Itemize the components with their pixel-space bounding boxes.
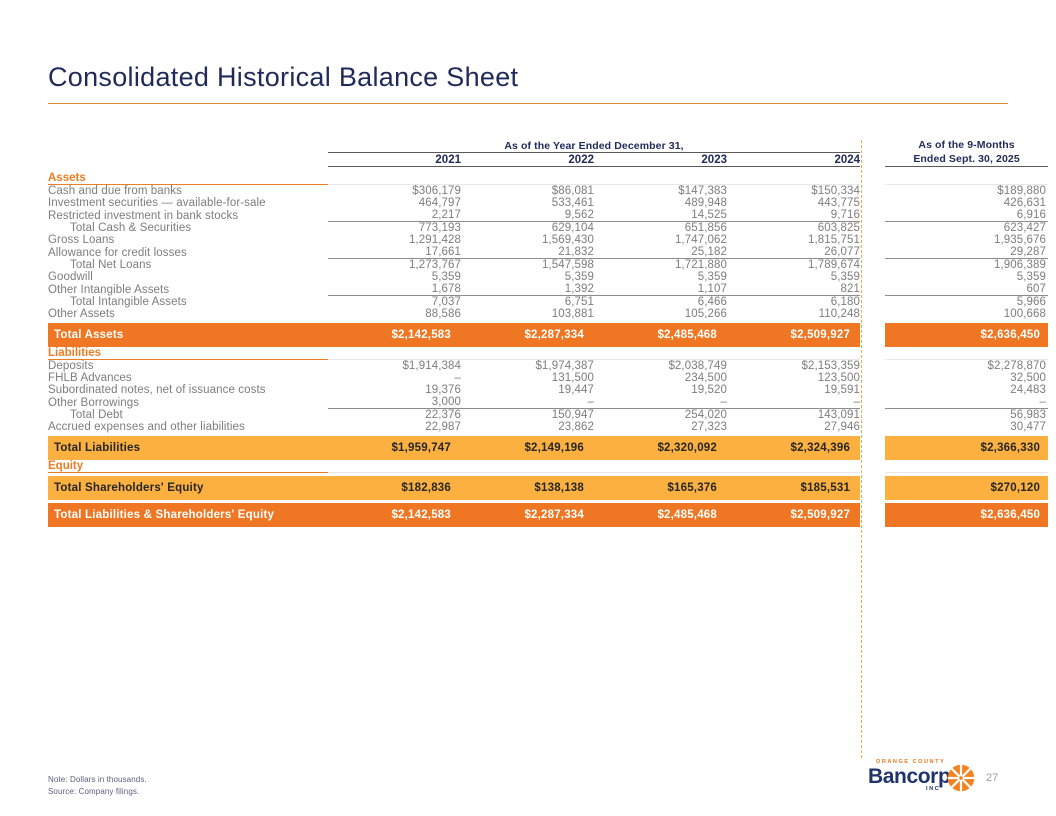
column-header-2022: 2022: [461, 152, 594, 167]
table-header-span-row: As of the Year Ended December 31, As of …: [48, 138, 1048, 152]
cell-sub-notes-2022: 19,447: [461, 384, 594, 396]
header-stub-label-line2: Ended Sept. 30, 2025: [885, 152, 1048, 167]
cell-allowance-2021: 17,661: [328, 246, 461, 259]
cell-sub-notes-2023: 19,520: [594, 384, 727, 396]
cell-restricted-2024: 9,716: [727, 209, 860, 222]
cell-gross-loans-2025: 1,935,676: [885, 234, 1048, 246]
cell-total-liab-equity-2025: $2,636,450: [885, 503, 1048, 527]
section-gap-assets: [860, 172, 885, 185]
row-gap: [860, 185, 885, 198]
row-label-restricted-investment: Restricted investment in bank stocks: [48, 209, 328, 222]
cell-total-net-loans-2021: 1,273,767: [328, 259, 461, 272]
logo-inc-text: INC: [926, 786, 940, 792]
row-label-other-assets: Other Assets: [48, 308, 328, 320]
row-gap: [860, 323, 885, 347]
cell-total-liabilities-2024: $2,324,396: [727, 436, 860, 460]
row-label-total-net-loans: Total Net Loans: [48, 259, 328, 272]
row-gap: [860, 476, 885, 500]
table-row: Other Assets 88,586 103,881 105,266 110,…: [48, 308, 1048, 320]
cell-other-borrowings-2022: –: [461, 396, 594, 409]
cell-total-cash-sec-2022: 629,104: [461, 222, 594, 235]
cell-deposits-2023: $2,038,749: [594, 360, 727, 373]
balance-sheet-table: As of the Year Ended December 31, As of …: [48, 138, 1048, 527]
row-label-accrued-expenses: Accrued expenses and other liabilities: [48, 421, 328, 433]
table-row: Goodwill 5,359 5,359 5,359 5,359 5,359: [48, 271, 1048, 283]
cell-total-assets-2023: $2,485,468: [594, 323, 727, 347]
header-gap: [860, 138, 885, 152]
row-label-total-equity: Total Shareholders' Equity: [48, 476, 328, 500]
cell-restricted-2023: 14,525: [594, 209, 727, 222]
cell-goodwill-2023: 5,359: [594, 271, 727, 283]
cell-total-liab-equity-2024: $2,509,927: [727, 503, 860, 527]
row-label-total-cash-securities: Total Cash & Securities: [48, 222, 328, 235]
row-gap: [860, 360, 885, 373]
column-header-2024: 2024: [727, 152, 860, 167]
section-label-assets: Assets: [48, 172, 328, 185]
cell-total-debt-2023: 254,020: [594, 409, 727, 422]
table-row: Gross Loans 1,291,428 1,569,430 1,747,06…: [48, 234, 1048, 246]
cell-total-cash-sec-2024: 603,825: [727, 222, 860, 235]
cell-restricted-2021: 2,217: [328, 209, 461, 222]
footnote-note: Note: Dollars in thousands.: [48, 774, 147, 786]
cell-other-intangible-2022: 1,392: [461, 283, 594, 296]
cell-other-assets-2023: 105,266: [594, 308, 727, 320]
row-gap: [860, 384, 885, 396]
cell-other-borrowings-2024: –: [727, 396, 860, 409]
cell-gross-loans-2023: 1,747,062: [594, 234, 727, 246]
cell-total-assets-2025: $2,636,450: [885, 323, 1048, 347]
row-label-other-borrowings: Other Borrowings: [48, 396, 328, 409]
cell-inv-afs-2022: 533,461: [461, 197, 594, 209]
cell-total-debt-2024: 143,091: [727, 409, 860, 422]
balance-sheet-table-container: As of the Year Ended December 31, As of …: [48, 138, 1008, 527]
section-header-assets-row: Assets: [48, 172, 1048, 185]
section-label-liabilities: Liabilities: [48, 347, 328, 360]
cell-fhlb-2021: –: [328, 372, 461, 384]
cell-total-equity-2021: $182,836: [328, 476, 461, 500]
cell-total-intangible-2025: 5,966: [885, 296, 1048, 309]
cell-sub-notes-2021: 19,376: [328, 384, 461, 396]
row-label-fhlb-advances: FHLB Advances: [48, 372, 328, 384]
row-label-total-debt: Total Debt: [48, 409, 328, 422]
cell-goodwill-2021: 5,359: [328, 271, 461, 283]
table-header-year-row: 2021 2022 2023 2024 Ended Sept. 30, 2025: [48, 152, 1048, 167]
column-header-2023: 2023: [594, 152, 727, 167]
cell-total-net-loans-2022: 1,547,598: [461, 259, 594, 272]
table-row: Deposits $1,914,384 $1,974,387 $2,038,74…: [48, 360, 1048, 373]
cell-deposits-2024: $2,153,359: [727, 360, 860, 373]
table-row: Accrued expenses and other liabilities 2…: [48, 421, 1048, 433]
cell-other-assets-2024: 110,248: [727, 308, 860, 320]
row-gap: [860, 421, 885, 433]
cell-total-net-loans-2023: 1,721,880: [594, 259, 727, 272]
row-label-total-liabilities: Total Liabilities: [48, 436, 328, 460]
cell-goodwill-2024: 5,359: [727, 271, 860, 283]
cell-total-cash-sec-2023: 651,856: [594, 222, 727, 235]
row-gap: [860, 222, 885, 235]
cell-inv-afs-2024: 443,775: [727, 197, 860, 209]
section-header-equity-row: Equity: [48, 460, 1048, 473]
column-divider-dashed: [861, 140, 862, 758]
footnotes: Note: Dollars in thousands. Source: Comp…: [48, 774, 147, 798]
orange-slice-icon: [947, 764, 975, 792]
table-row: Other Borrowings 3,000 – – – –: [48, 396, 1048, 409]
cell-total-liabilities-2025: $2,366,330: [885, 436, 1048, 460]
row-gap: [860, 308, 885, 320]
cell-other-borrowings-2021: 3,000: [328, 396, 461, 409]
cell-total-intangible-2022: 6,751: [461, 296, 594, 309]
cell-total-liabilities-2022: $2,149,196: [461, 436, 594, 460]
row-gap: [860, 259, 885, 272]
table-row: Investment securities — available-for-sa…: [48, 197, 1048, 209]
cell-gross-loans-2021: 1,291,428: [328, 234, 461, 246]
cell-restricted-2022: 9,562: [461, 209, 594, 222]
cell-gross-loans-2022: 1,569,430: [461, 234, 594, 246]
cell-allowance-2025: 29,287: [885, 246, 1048, 259]
cell-total-liabilities-2023: $2,320,092: [594, 436, 727, 460]
table-row: Restricted investment in bank stocks 2,2…: [48, 209, 1048, 222]
cell-total-assets-2022: $2,287,334: [461, 323, 594, 347]
cell-total-liabilities-2021: $1,959,747: [328, 436, 461, 460]
section-rule-equity: [328, 460, 860, 473]
cell-accrued-2022: 23,862: [461, 421, 594, 433]
cell-allowance-2022: 21,832: [461, 246, 594, 259]
cell-total-net-loans-2025: 1,906,389: [885, 259, 1048, 272]
cell-cash-due-2025: $189,880: [885, 185, 1048, 198]
cell-inv-afs-2023: 489,948: [594, 197, 727, 209]
cell-total-intangible-2021: 7,037: [328, 296, 461, 309]
cell-inv-afs-2021: 464,797: [328, 197, 461, 209]
row-label-goodwill: Goodwill: [48, 271, 328, 283]
header-stub-label-line1: As of the 9-Months: [885, 138, 1048, 152]
cell-deposits-2021: $1,914,384: [328, 360, 461, 373]
cell-accrued-2023: 27,323: [594, 421, 727, 433]
cell-other-borrowings-2025: –: [885, 396, 1048, 409]
row-label-deposits: Deposits: [48, 360, 328, 373]
table-row: FHLB Advances – 131,500 234,500 123,500 …: [48, 372, 1048, 384]
cell-allowance-2024: 26,077: [727, 246, 860, 259]
header-gap-2: [860, 152, 885, 167]
page-title: Consolidated Historical Balance Sheet: [48, 62, 518, 93]
cell-goodwill-2022: 5,359: [461, 271, 594, 283]
header-spacer: [48, 138, 328, 152]
row-label-total-intangible-assets: Total Intangible Assets: [48, 296, 328, 309]
row-label-total-assets: Total Assets: [48, 323, 328, 347]
cell-fhlb-2023: 234,500: [594, 372, 727, 384]
row-gap: [860, 372, 885, 384]
table-row: Subordinated notes, net of issuance cost…: [48, 384, 1048, 396]
row-gap: [860, 503, 885, 527]
row-gap: [860, 283, 885, 296]
cell-total-equity-2025: $270,120: [885, 476, 1048, 500]
cell-other-intangible-2024: 821: [727, 283, 860, 296]
cell-total-assets-2024: $2,509,927: [727, 323, 860, 347]
section-rule-liabilities-last: [885, 347, 1048, 360]
row-gap: [860, 209, 885, 222]
section-rule-assets-last: [885, 172, 1048, 185]
section-label-equity: Equity: [48, 460, 328, 473]
header-years-span-label: As of the Year Ended December 31,: [328, 138, 860, 152]
cell-other-assets-2025: 100,668: [885, 308, 1048, 320]
row-label-gross-loans: Gross Loans: [48, 234, 328, 246]
cell-deposits-2022: $1,974,387: [461, 360, 594, 373]
cell-total-debt-2025: 56,983: [885, 409, 1048, 422]
row-label-cash-due: Cash and due from banks: [48, 185, 328, 198]
cell-total-net-loans-2024: 1,789,674: [727, 259, 860, 272]
cell-accrued-2021: 22,987: [328, 421, 461, 433]
table-row: Other Intangible Assets 1,678 1,392 1,10…: [48, 283, 1048, 296]
section-rule-liabilities: [328, 347, 860, 360]
header-spacer-2: [48, 152, 328, 167]
total-liabilities-row: Total Liabilities $1,959,747 $2,149,196 …: [48, 436, 1048, 460]
total-liabilities-and-equity-row: Total Liabilities & Shareholders' Equity…: [48, 503, 1048, 527]
row-gap: [860, 409, 885, 422]
cell-total-debt-2022: 150,947: [461, 409, 594, 422]
cell-sub-notes-2025: 24,483: [885, 384, 1048, 396]
cell-sub-notes-2024: 19,591: [727, 384, 860, 396]
cell-cash-due-2021: $306,179: [328, 185, 461, 198]
section-rule-assets: [328, 172, 860, 185]
cell-cash-due-2024: $150,334: [727, 185, 860, 198]
cell-total-liab-equity-2022: $2,287,334: [461, 503, 594, 527]
row-gap: [860, 436, 885, 460]
cell-accrued-2024: 27,946: [727, 421, 860, 433]
cell-other-assets-2021: 88,586: [328, 308, 461, 320]
cell-accrued-2025: 30,477: [885, 421, 1048, 433]
table-row: Allowance for credit losses 17,661 21,83…: [48, 246, 1048, 259]
cell-total-liab-equity-2023: $2,485,468: [594, 503, 727, 527]
cell-inv-afs-2025: 426,631: [885, 197, 1048, 209]
footnote-source: Source: Company filings.: [48, 786, 147, 798]
cell-restricted-2025: 6,916: [885, 209, 1048, 222]
company-logo: ORANGE COUNTY Bancorp INC: [868, 758, 978, 800]
table-row-subtotal: Total Intangible Assets 7,037 6,751 6,46…: [48, 296, 1048, 309]
cell-fhlb-2025: 32,500: [885, 372, 1048, 384]
title-underline-rule: [48, 103, 1008, 104]
row-label-investment-securities: Investment securities — available-for-sa…: [48, 197, 328, 209]
cell-total-debt-2021: 22,376: [328, 409, 461, 422]
table-row-subtotal: Total Net Loans 1,273,767 1,547,598 1,72…: [48, 259, 1048, 272]
cell-fhlb-2024: 123,500: [727, 372, 860, 384]
cell-allowance-2023: 25,182: [594, 246, 727, 259]
table-row: Cash and due from banks $306,179 $86,081…: [48, 185, 1048, 198]
cell-total-intangible-2024: 6,180: [727, 296, 860, 309]
cell-cash-due-2023: $147,383: [594, 185, 727, 198]
row-label-other-intangible-assets: Other Intangible Assets: [48, 283, 328, 296]
cell-other-intangible-2025: 607: [885, 283, 1048, 296]
table-row-subtotal: Total Cash & Securities 773,193 629,104 …: [48, 222, 1048, 235]
page-number: 27: [986, 772, 998, 784]
table-row-subtotal: Total Debt 22,376 150,947 254,020 143,09…: [48, 409, 1048, 422]
cell-total-liab-equity-2021: $2,142,583: [328, 503, 461, 527]
cell-gross-loans-2024: 1,815,751: [727, 234, 860, 246]
section-header-liabilities-row: Liabilities: [48, 347, 1048, 360]
cell-total-equity-2023: $165,376: [594, 476, 727, 500]
section-rule-equity-last: [885, 460, 1048, 473]
cell-other-intangible-2023: 1,107: [594, 283, 727, 296]
cell-total-cash-sec-2025: 623,427: [885, 222, 1048, 235]
cell-other-intangible-2021: 1,678: [328, 283, 461, 296]
cell-goodwill-2025: 5,359: [885, 271, 1048, 283]
total-assets-row: Total Assets $2,142,583 $2,287,334 $2,48…: [48, 323, 1048, 347]
row-gap: [860, 234, 885, 246]
row-gap: [860, 197, 885, 209]
cell-total-cash-sec-2021: 773,193: [328, 222, 461, 235]
total-shareholders-equity-row: Total Shareholders' Equity $182,836 $138…: [48, 476, 1048, 500]
section-gap-equity: [860, 460, 885, 473]
cell-total-equity-2024: $185,531: [727, 476, 860, 500]
row-label-total-liab-equity: Total Liabilities & Shareholders' Equity: [48, 503, 328, 527]
cell-total-intangible-2023: 6,466: [594, 296, 727, 309]
row-gap: [860, 246, 885, 259]
row-label-subordinated-notes: Subordinated notes, net of issuance cost…: [48, 384, 328, 396]
section-gap-liabilities: [860, 347, 885, 360]
row-gap: [860, 396, 885, 409]
cell-other-assets-2022: 103,881: [461, 308, 594, 320]
row-label-allowance-credit-losses: Allowance for credit losses: [48, 246, 328, 259]
cell-total-assets-2021: $2,142,583: [328, 323, 461, 347]
cell-total-equity-2022: $138,138: [461, 476, 594, 500]
cell-other-borrowings-2023: –: [594, 396, 727, 409]
cell-deposits-2025: $2,278,870: [885, 360, 1048, 373]
cell-fhlb-2022: 131,500: [461, 372, 594, 384]
column-header-2021: 2021: [328, 152, 461, 167]
row-gap: [860, 271, 885, 283]
row-gap: [860, 296, 885, 309]
cell-cash-due-2022: $86,081: [461, 185, 594, 198]
